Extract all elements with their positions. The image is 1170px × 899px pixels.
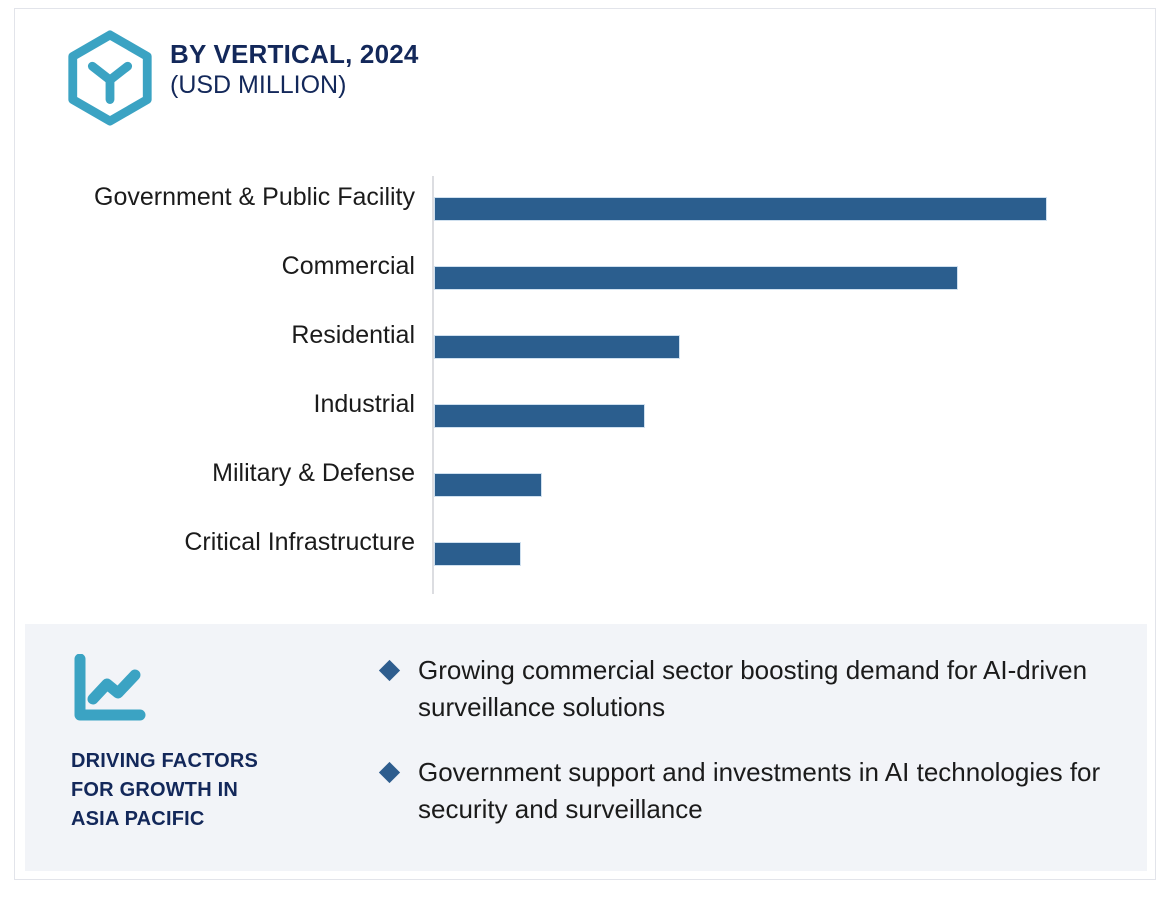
bar-military-defense	[434, 473, 542, 497]
hexagon-y-logo-icon	[61, 29, 159, 127]
driving-factors-heading: DRIVING FACTORS FOR GROWTH IN ASIA PACIF…	[71, 747, 361, 834]
bar-industrial	[434, 404, 645, 428]
page-subtitle: (USD MILLION)	[170, 69, 419, 101]
diamond-bullet-icon	[379, 660, 400, 681]
bar-residential	[434, 335, 680, 359]
bar-category-label: Government & Public Facility	[94, 183, 415, 212]
driving-factors-list: Growing commercial sector boosting deman…	[380, 652, 1120, 856]
heading-line-3: ASIA PACIFIC	[71, 805, 361, 834]
driving-factors-panel: DRIVING FACTORS FOR GROWTH IN ASIA PACIF…	[25, 624, 1147, 871]
bar-row: Critical Infrastructure	[15, 516, 1157, 585]
diamond-bullet-icon	[379, 762, 400, 783]
bar-critical-infrastructure	[434, 542, 521, 566]
header-text-block: BY VERTICAL, 2024 (USD MILLION)	[170, 39, 419, 101]
bar-commercial	[434, 266, 958, 290]
card-header: BY VERTICAL, 2024 (USD MILLION)	[15, 9, 1155, 139]
bar-government-public-facility	[434, 197, 1047, 221]
heading-line-1: DRIVING FACTORS	[71, 747, 361, 776]
bar-category-label: Critical Infrastructure	[184, 528, 415, 557]
bar-category-label: Residential	[291, 321, 415, 350]
heading-line-2: FOR GROWTH IN	[71, 776, 361, 805]
page-title: BY VERTICAL, 2024	[170, 39, 419, 69]
bar-category-label: Industrial	[314, 390, 415, 419]
bar-row: Military & Defense	[15, 447, 1157, 516]
horizontal-bar-chart: Government & Public Facility Commercial …	[15, 159, 1157, 614]
chart-card: BY VERTICAL, 2024 (USD MILLION) Governme…	[14, 8, 1156, 880]
bar-category-label: Military & Defense	[212, 459, 415, 488]
list-item-text: Growing commercial sector boosting deman…	[418, 655, 1087, 722]
bar-row: Residential	[15, 309, 1157, 378]
bar-row: Government & Public Facility	[15, 171, 1157, 240]
bar-row: Industrial	[15, 378, 1157, 447]
bar-row: Commercial	[15, 240, 1157, 309]
line-chart-icon	[71, 654, 147, 724]
list-item: Growing commercial sector boosting deman…	[380, 652, 1120, 726]
list-item: Government support and investments in AI…	[380, 754, 1120, 828]
bar-category-label: Commercial	[282, 252, 415, 281]
list-item-text: Government support and investments in AI…	[418, 757, 1100, 824]
